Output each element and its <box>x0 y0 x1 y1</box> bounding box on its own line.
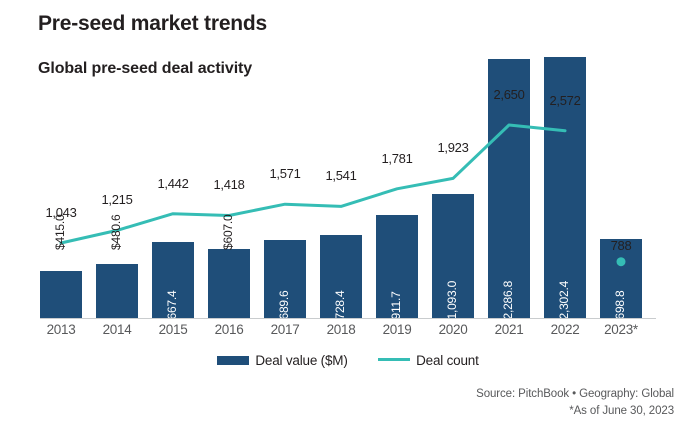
deal-count-label-2020: 1,923 <box>425 140 481 155</box>
footnote-source: Source: PitchBook • Geography: Global <box>476 386 674 403</box>
deal-count-label-2023: 788 <box>593 238 649 253</box>
deal-count-label-2013: 1,043 <box>33 205 89 220</box>
footnote: Source: PitchBook • Geography: Global *A… <box>476 386 674 420</box>
bar-value-label-2017: $689.6 <box>277 290 291 326</box>
legend-item-deal-value[interactable]: Deal value ($M) <box>217 352 347 370</box>
deal-count-label-2022: 2,572 <box>537 93 593 108</box>
x-tick-2023: 2023* <box>593 322 649 337</box>
bar-swatch-icon <box>217 356 249 365</box>
x-tick-2015: 2015 <box>145 322 201 337</box>
deal-count-label-2015: 1,442 <box>145 176 201 191</box>
legend-label-deal-count: Deal count <box>416 353 479 368</box>
deal-count-label-2018: 1,541 <box>313 168 369 183</box>
footnote-asof: *As of June 30, 2023 <box>476 403 674 420</box>
x-tick-2018: 2018 <box>313 322 369 337</box>
deal-count-label-2016: 1,418 <box>201 177 257 192</box>
bar-value-label-2015: $667.4 <box>165 290 179 326</box>
x-tick-2021: 2021 <box>481 322 537 337</box>
bar-value-label-2014: $480.6 <box>109 214 123 250</box>
chart-page: Pre-seed market trends Global pre-seed d… <box>0 0 696 426</box>
bar-2013[interactable] <box>40 271 82 318</box>
x-tick-2013: 2013 <box>33 322 89 337</box>
x-tick-2017: 2017 <box>257 322 313 337</box>
bar-value-label-2019: $911.7 <box>389 291 403 326</box>
bar-value-label-2020: $1,093.0 <box>445 281 459 326</box>
bar-2014[interactable] <box>96 264 138 318</box>
deal-count-label-2019: 1,781 <box>369 151 425 166</box>
chart-legend: Deal value ($M) Deal count <box>0 352 696 370</box>
x-tick-2016: 2016 <box>201 322 257 337</box>
legend-item-deal-count[interactable]: Deal count <box>378 352 479 370</box>
x-tick-2022: 2022 <box>537 322 593 337</box>
bar-value-label-2016: $607.0 <box>221 214 235 250</box>
x-axis-line <box>40 318 656 319</box>
legend-label-deal-value: Deal value ($M) <box>255 353 347 368</box>
line-swatch-icon <box>378 358 410 361</box>
deal-count-label-2021: 2,650 <box>481 87 537 102</box>
bar-value-label-2018: $728.4 <box>333 290 347 326</box>
bar-value-label-2022: $2,302.4 <box>557 281 571 326</box>
deal-count-label-2014: 1,215 <box>89 192 145 207</box>
x-tick-2020: 2020 <box>425 322 481 337</box>
deal-count-label-2017: 1,571 <box>257 166 313 181</box>
bar-value-label-2023: $698.8 <box>613 290 627 326</box>
bar-value-label-2021: $2,286.8 <box>501 281 515 326</box>
x-tick-2019: 2019 <box>369 322 425 337</box>
bar-2016[interactable] <box>208 249 250 318</box>
x-tick-2014: 2014 <box>89 322 145 337</box>
